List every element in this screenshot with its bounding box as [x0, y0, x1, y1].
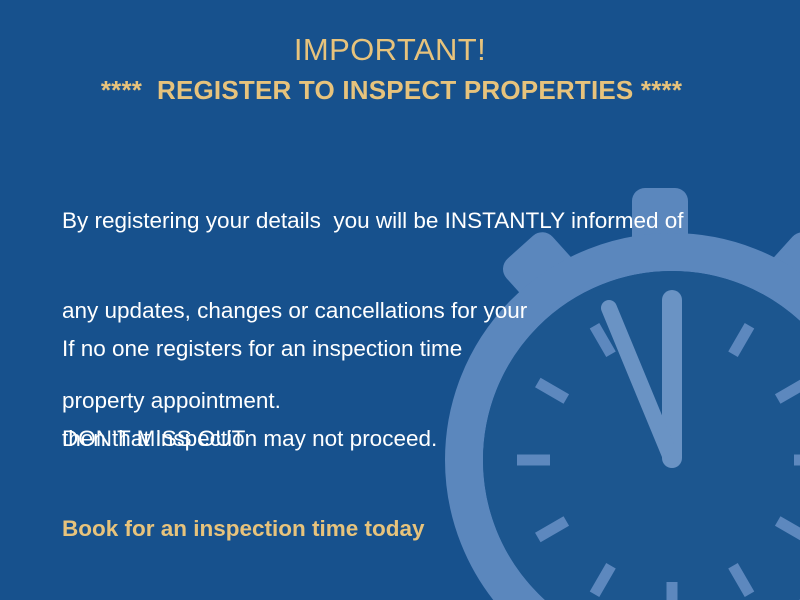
cta-headline: DON’T MISS OUT — [62, 424, 425, 454]
cta-line-book: Book for an inspection time today — [62, 514, 425, 544]
slide-text-layer: IMPORTANT! **** REGISTER TO INSPECT PROP… — [0, 0, 800, 600]
page-subtitle: **** REGISTER TO INSPECT PROPERTIES **** — [0, 76, 783, 106]
page-title: IMPORTANT! — [0, 33, 780, 67]
presentation-slide: IMPORTANT! **** REGISTER TO INSPECT PROP… — [0, 0, 800, 600]
paragraph-1-line-1: By registering your details you will be … — [62, 206, 684, 236]
body-paragraph-call-to-action: DON’T MISS OUT Book for an inspection ti… — [62, 364, 425, 600]
paragraph-2-line-1: If no one registers for an inspection ti… — [62, 334, 462, 364]
